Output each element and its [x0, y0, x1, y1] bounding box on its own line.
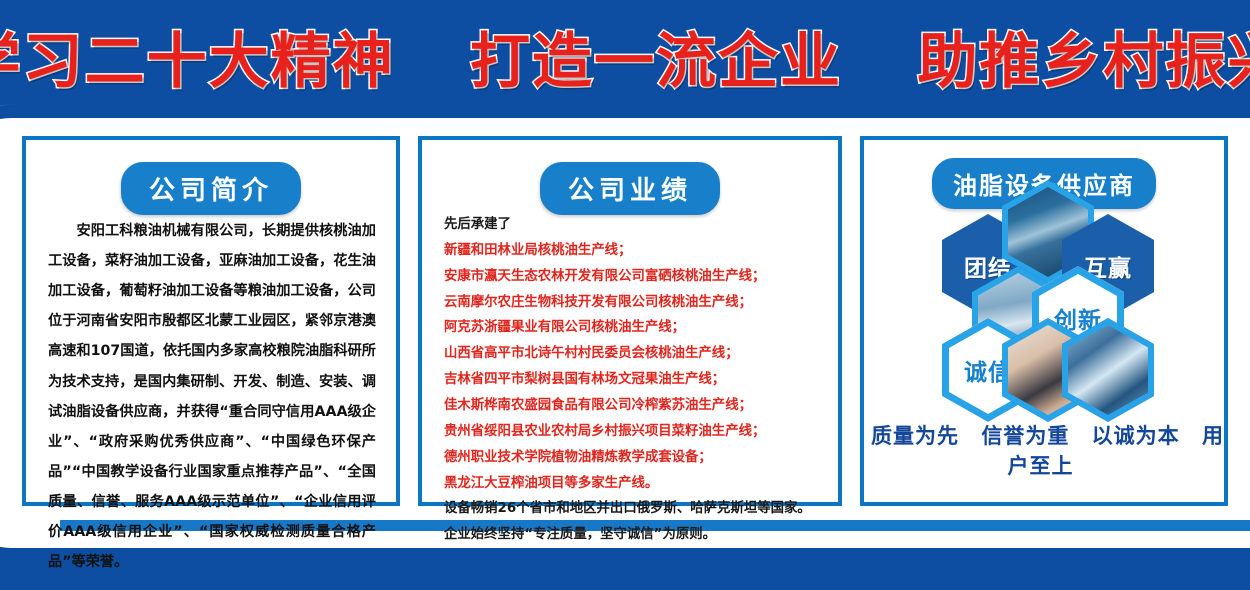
list-item: 安康市瀛天生态农林开发有限公司富硒核桃油生产线；: [444, 264, 824, 290]
skyscraper-photo-icon: [1068, 325, 1148, 415]
panel-mid-badge: 公司业绩: [540, 162, 720, 215]
panel-company-achievements: 公司业绩 先后承建了 新疆和田林业局核桃油生产线； 安康市瀛天生态农林开发有限公…: [418, 136, 842, 506]
achievements-footer-line: 企业始终坚持“专注质量，坚守诚信”为原则。: [444, 522, 824, 548]
company-profile-paragraph: 安阳工科粮油机械有限公司，长期提供核桃油加工设备，菜籽油加工设备，亚麻油加工设备…: [48, 223, 376, 570]
poster-header: 学习二十大精神 打造一流企业 助推乡村振兴: [0, 0, 1250, 112]
header-title: 学习二十大精神 打造一流企业 助推乡村振兴: [0, 13, 1250, 100]
list-item: 佳木斯桦南农盛园食品有限公司冷榨紫苏油生产线；: [444, 393, 824, 419]
list-item: 吉林省四平市梨树县国有林场文冠果油生产线；: [444, 367, 824, 393]
panel-left-badge: 公司简介: [121, 162, 301, 215]
list-item: 云南摩尔农庄生物科技开发有限公司核桃油生产线；: [444, 290, 824, 316]
values-slogan: 质量为先 信誉为重 以诚为本 用户至上: [864, 420, 1224, 480]
achievements-footer-line: 设备畅销26个省市和地区并出口俄罗斯、哈萨克斯坦等国家。: [444, 496, 824, 522]
panel-company-profile: 公司简介 安阳工科粮油机械有限公司，长期提供核桃油加工设备，菜籽油加工设备，亚麻…: [22, 136, 400, 506]
slogan-part: 以诚为本: [1092, 424, 1180, 448]
list-item: 新疆和田林业局核桃油生产线；: [444, 238, 824, 264]
header-title-part-3: 助推乡村振兴: [917, 28, 1250, 95]
hexagon-cluster: 团结 互赢 创新: [864, 198, 1224, 456]
panel-supplier-values: 油脂设备供应商 团结 互赢: [860, 136, 1228, 506]
list-item: 阿克苏浙疆果业有限公司核桃油生产线；: [444, 315, 824, 341]
company-profile-text: 安阳工科粮油机械有限公司，长期提供核桃油加工设备，菜籽油加工设备，亚麻油加工设备…: [48, 216, 376, 577]
list-item: 黑龙江大豆榨油项目等多家生产线。: [444, 471, 824, 497]
header-title-part-2: 打造一流企业: [470, 28, 842, 95]
slogan-part: 质量为先: [871, 424, 959, 448]
list-item: 山西省高平市北诗午村村民委员会核桃油生产线；: [444, 341, 824, 367]
achievements-lead: 先后承建了: [444, 212, 824, 238]
poster-board: 学习二十大精神 打造一流企业 助推乡村振兴 公司简介 安阳工科粮油机械有限公司，…: [0, 0, 1250, 590]
slogan-part: 信誉为重: [981, 424, 1069, 448]
list-item: 德州职业技术学院植物油精炼教学成套设备；: [444, 445, 824, 471]
header-title-part-1: 学习二十大精神: [0, 28, 395, 95]
achievements-list: 先后承建了 新疆和田林业局核桃油生产线； 安康市瀛天生态农林开发有限公司富硒核桃…: [444, 212, 824, 548]
list-item: 贵州省绥阳县农业农村局乡村振兴项目菜籽油生产线；: [444, 419, 824, 445]
